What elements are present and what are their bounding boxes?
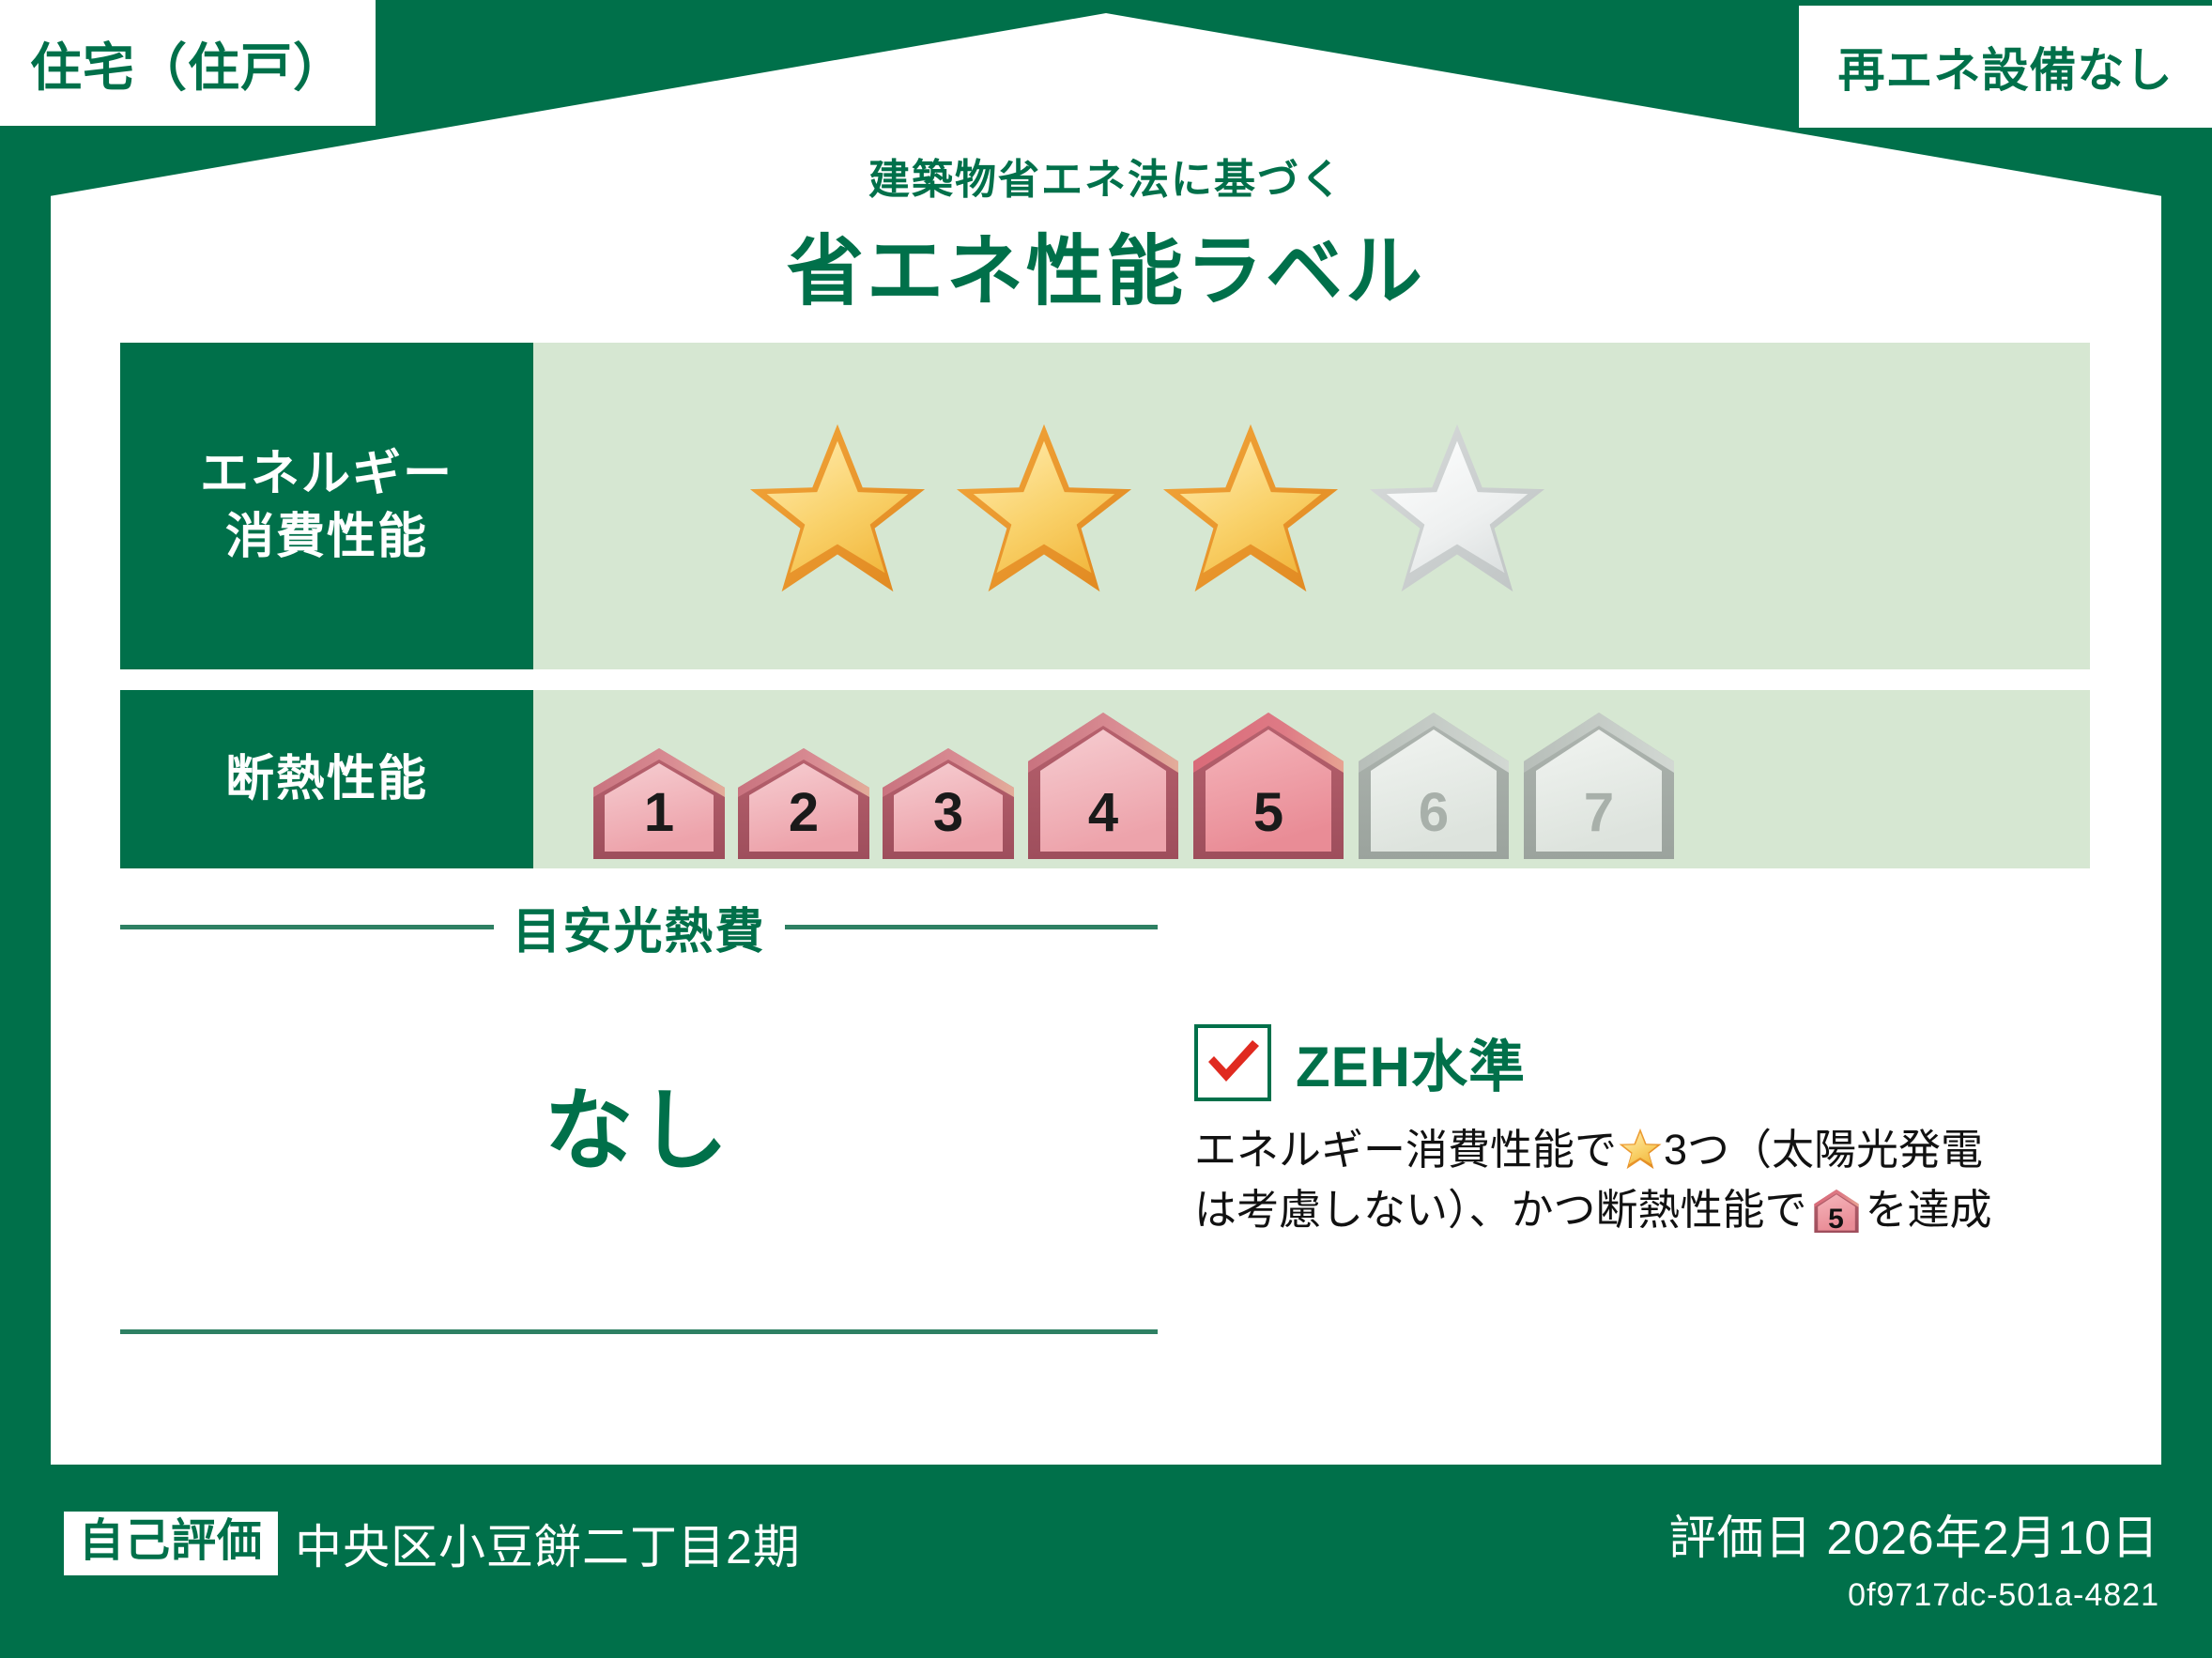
renewable-equipment-label: 再エネ設備なし xyxy=(1838,33,2174,100)
page-title: 省エネ性能ラベル xyxy=(0,208,2212,320)
insulation-level-3: 3 xyxy=(879,735,1018,868)
insulation-level-5: 5 xyxy=(1189,703,1348,868)
estimated-utility-cost-bottom-rule xyxy=(120,1329,1158,1334)
insulation-level-5-number: 5 xyxy=(1189,781,1348,844)
insulation-level-1-number: 1 xyxy=(590,781,729,844)
star-filled-icon xyxy=(745,413,930,599)
footer-left: 自己評価 中央区小豆餅二丁目2期 xyxy=(64,1510,801,1577)
building-type-badge: 住宅（住戸） xyxy=(0,0,376,126)
estimated-utility-cost-value: なし xyxy=(120,1059,1158,1188)
energy-label-line-1: エネルギー xyxy=(200,443,453,506)
insulation-level-7: 7 xyxy=(1519,703,1679,868)
inline-star-icon xyxy=(1618,1126,1663,1171)
zeh-description: エネルギー消費性能で3つ（太陽光発電は考慮しない）、かつ断熱性能で5を達成 xyxy=(1194,1120,2096,1240)
energy-performance-value-box xyxy=(533,343,2090,669)
insulation-performance-value-box: 1 2 3 xyxy=(533,690,2090,868)
energy-performance-label-box: エネルギー 消費性能 xyxy=(120,343,533,669)
zeh-title: ZEH水準 xyxy=(1296,1021,1526,1103)
star-rating xyxy=(533,413,1550,599)
estimated-utility-cost-heading: 目安光熱費 xyxy=(120,892,1158,962)
star-filled-icon xyxy=(1158,413,1344,599)
zeh-desc-part-4: を達成 xyxy=(1866,1186,1992,1234)
insulation-performance-row: 断熱性能 xyxy=(120,690,2090,868)
evaluation-id: 0f9717dc-501a-4821 xyxy=(1668,1577,2159,1614)
star-empty-icon xyxy=(1364,413,1550,599)
evaluation-date: 評価日 2026年2月10日 xyxy=(1668,1500,2159,1568)
zeh-heading-row: ZEH水準 xyxy=(1194,1021,2096,1103)
property-address: 中央区小豆餅二丁目2期 xyxy=(295,1510,801,1577)
insulation-label: 断熱性能 xyxy=(225,748,428,811)
zeh-desc-part-3: は考慮しない）、かつ断熱性能で xyxy=(1194,1186,1807,1234)
insulation-level-4: 4 xyxy=(1023,703,1183,868)
zeh-checkbox[interactable] xyxy=(1194,1024,1271,1101)
renewable-equipment-badge: 再エネ設備なし xyxy=(1799,6,2212,128)
inline-insulation-house-icon: 5 xyxy=(1810,1187,1863,1236)
energy-performance-row: エネルギー 消費性能 xyxy=(120,343,2090,669)
insulation-level-1: 1 xyxy=(590,735,729,868)
check-icon xyxy=(1203,1034,1263,1090)
energy-label-line-2: 消費性能 xyxy=(225,506,428,569)
insulation-level-2: 2 xyxy=(734,735,873,868)
insulation-performance-label-box: 断熱性能 xyxy=(120,690,533,868)
insulation-level-3-number: 3 xyxy=(879,781,1018,844)
evaluation-type-badge: 自己評価 xyxy=(64,1512,278,1576)
insulation-level-7-number: 7 xyxy=(1519,781,1679,844)
heading-rule-left xyxy=(120,925,494,929)
insulation-level-6: 6 xyxy=(1354,703,1513,868)
heading-rule-right xyxy=(785,925,1159,929)
star-filled-icon xyxy=(951,413,1137,599)
insulation-level-scale: 1 2 3 xyxy=(533,690,1684,868)
building-type-label: 住宅（住戸） xyxy=(30,25,346,100)
zeh-desc-part-2: 3つ（太陽光発電 xyxy=(1664,1126,1983,1174)
footer-right: 評価日 2026年2月10日 0f9717dc-501a-4821 xyxy=(1668,1500,2159,1614)
title-subheading: 建築物省エネ法に基づく xyxy=(0,146,2212,206)
insulation-level-4-number: 4 xyxy=(1023,781,1183,844)
energy-performance-label: 住宅（住戸） 再エネ設備なし 建築物省エネ法に基づく 省エネ性能ラベル エネルギ… xyxy=(0,0,2212,1658)
zeh-standard-block: ZEH水準 エネルギー消費性能で3つ（太陽光発電は考慮しない）、かつ断熱性能で5… xyxy=(1194,1021,2096,1240)
zeh-desc-part-1: エネルギー消費性能で xyxy=(1194,1126,1617,1174)
inline-house-number: 5 xyxy=(1810,1205,1863,1234)
insulation-level-6-number: 6 xyxy=(1354,781,1513,844)
insulation-level-2-number: 2 xyxy=(734,781,873,844)
estimated-utility-cost-label: 目安光熱費 xyxy=(513,892,766,962)
